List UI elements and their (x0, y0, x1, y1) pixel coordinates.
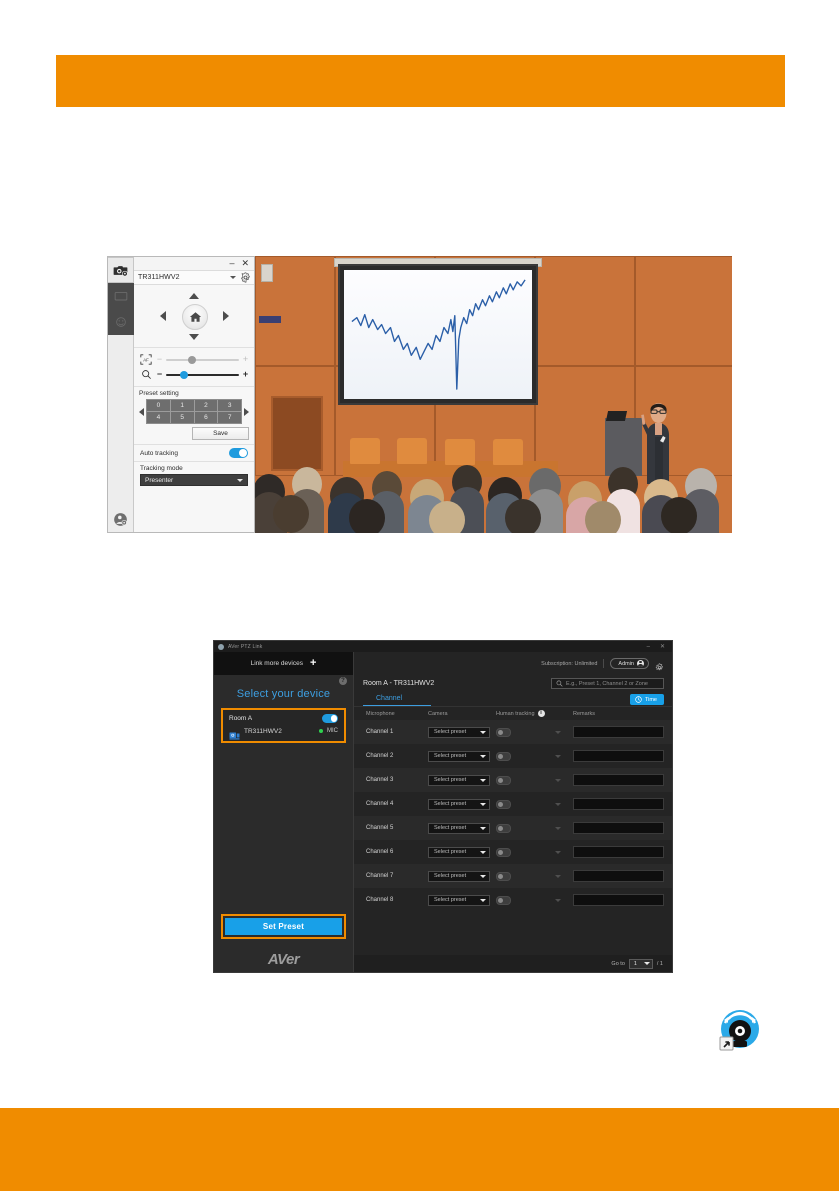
toggle-knob (239, 449, 247, 457)
row-human-tracking-cell (496, 824, 573, 833)
ptz-device-name: TR311HWV2 (138, 274, 227, 281)
rail-smiley-button[interactable] (108, 309, 134, 335)
set-preset-highlight: Set Preset (221, 914, 346, 939)
column-header-human-tracking: Human tracking (496, 711, 535, 717)
human-tracking-toggle[interactable] (496, 800, 511, 809)
pan-left-button[interactable] (160, 311, 166, 321)
column-header-human-tracking-wrap: Human tracking i (496, 710, 573, 717)
link-more-devices-label: Link more devices (251, 660, 303, 667)
device-card-top-row: Room A (229, 714, 338, 723)
row-microphone-label: Channel 6 (366, 849, 428, 855)
preset-row: 0 1 2 3 4 5 6 7 (139, 399, 249, 424)
row-microphone-label: Channel 5 (366, 825, 428, 831)
chevron-down-icon[interactable] (555, 851, 561, 854)
zoom-slider-thumb[interactable] (180, 371, 188, 379)
camera-preset-value: Select preset (434, 777, 466, 783)
ptz-main-area: – ✕ TR311HWV2 (134, 257, 254, 532)
projection-screen (338, 264, 538, 405)
remarks-input[interactable] (573, 894, 664, 906)
set-preset-button[interactable]: Set Preset (225, 918, 342, 935)
camera-preset-select[interactable]: Select preset (428, 727, 490, 738)
info-icon[interactable]: i (538, 710, 545, 717)
audience (255, 462, 732, 533)
auto-focus-icon: AF (139, 354, 153, 366)
user-avatar-icon (637, 660, 644, 667)
human-tracking-toggle[interactable] (496, 848, 511, 857)
human-tracking-toggle[interactable] (496, 896, 511, 905)
select-your-device-title: Select your device (214, 686, 353, 708)
camera-preset-value: Select preset (434, 897, 466, 903)
chevron-left-icon[interactable] (139, 408, 144, 416)
camera-preset-value: Select preset (434, 873, 466, 879)
human-tracking-toggle[interactable] (496, 752, 511, 761)
remarks-input[interactable] (573, 870, 664, 882)
ptz-settings-button[interactable] (239, 271, 252, 284)
toggle-knob (331, 715, 338, 722)
brand-logo-wrap: AVer (214, 946, 353, 972)
tracking-mode-select[interactable]: Presenter (140, 474, 248, 486)
focus-minus-button[interactable]: − (156, 355, 163, 364)
preset-setting-label: Preset setting (139, 390, 249, 397)
chevron-down-icon[interactable] (555, 899, 561, 902)
app-logo-icon (218, 644, 224, 650)
preset-cell-1[interactable]: 1 (171, 400, 194, 411)
chevron-down-icon (480, 851, 486, 854)
ptz-titlebar: – ✕ (134, 257, 254, 270)
table-row[interactable]: Channel 8 Select preset (354, 888, 672, 912)
row-human-tracking-cell (496, 776, 573, 785)
wall-panel (535, 256, 635, 366)
app-top-bar: Subscription: Unlimited Admin (354, 652, 672, 675)
chevron-down-icon[interactable] (555, 779, 561, 782)
mic-label: MIC (327, 728, 338, 734)
help-row: ? (214, 675, 353, 686)
device-card-room-a[interactable]: Room A TR311HWV2 (221, 708, 346, 743)
admin-label: Admin (618, 661, 634, 667)
chevron-down-icon[interactable] (555, 875, 561, 878)
toggle-knob (498, 826, 503, 831)
toggle-knob (498, 754, 503, 759)
link-more-devices-button[interactable]: Link more devices + (214, 652, 353, 675)
ptz-sidebar-rail (108, 257, 134, 532)
device-room-label: Room A (229, 715, 252, 722)
focus-slider-thumb[interactable] (188, 356, 196, 364)
rail-display-button[interactable] (108, 283, 134, 309)
time-button-label: Time (645, 697, 657, 703)
magnifier-icon (139, 369, 153, 381)
chevron-down-icon (480, 755, 486, 758)
clock-icon (635, 696, 642, 703)
toggle-knob (498, 874, 503, 879)
row-camera-cell: Select preset (428, 799, 496, 810)
zoom-slider-row: − + (139, 367, 249, 382)
remarks-input[interactable] (573, 750, 664, 762)
remarks-input[interactable] (573, 846, 664, 858)
chevron-down-icon (480, 899, 486, 902)
camera-preset-value: Select preset (434, 753, 466, 759)
home-icon (189, 311, 202, 323)
human-tracking-toggle[interactable] (496, 728, 511, 737)
gear-icon (240, 272, 251, 283)
device-model-label: TR311HWV2 (244, 728, 315, 735)
camera-preset-select[interactable]: Select preset (428, 823, 490, 834)
tracking-mode-label: Tracking mode (140, 465, 248, 472)
pan-up-button[interactable] (189, 293, 199, 299)
focus-plus-button[interactable]: + (242, 355, 249, 364)
toggle-knob (498, 730, 503, 735)
camera-preset-select[interactable]: Select preset (428, 751, 490, 762)
tracking-mode-section: Tracking mode Presenter (134, 462, 254, 532)
remarks-input[interactable] (573, 774, 664, 786)
row-microphone-label: Channel 1 (366, 729, 428, 735)
preset-save-button[interactable]: Save (192, 427, 249, 440)
camera-device-icon (229, 727, 240, 736)
tracking-mode-value: Presenter (145, 477, 173, 484)
toggle-knob (498, 898, 503, 903)
remarks-input[interactable] (573, 798, 664, 810)
column-header-microphone: Microphone (366, 711, 428, 717)
column-header-remarks: Remarks (573, 711, 664, 717)
main-content-panel: Subscription: Unlimited Admin Room A - T… (354, 652, 672, 972)
page-total-label: / 1 (657, 961, 663, 967)
row-camera-cell: Select preset (428, 727, 496, 738)
top-banner-bar (56, 55, 785, 107)
ptz-minimize-button[interactable]: – (229, 259, 234, 268)
app-minimize-button[interactable]: – (644, 644, 653, 650)
row-microphone-label: Channel 4 (366, 801, 428, 807)
camera-preset-select[interactable]: Select preset (428, 895, 490, 906)
row-human-tracking-cell (496, 728, 573, 737)
chevron-right-icon[interactable] (244, 408, 249, 416)
auto-tracking-label: Auto tracking (140, 450, 178, 457)
device-power-toggle[interactable] (322, 714, 338, 723)
chevron-down-icon (480, 779, 486, 782)
row-human-tracking-cell (496, 848, 573, 857)
table-row[interactable]: Channel 3 Select preset (354, 768, 672, 792)
ptz-control-window: – ✕ TR311HWV2 (107, 256, 255, 533)
focus-slider-row: AF − + (139, 352, 249, 367)
preset-cell-0[interactable]: 0 (147, 400, 170, 411)
settings-button[interactable] (655, 659, 664, 668)
human-tracking-toggle[interactable] (496, 824, 511, 833)
smiley-icon (114, 316, 128, 328)
ptz-sliders: AF − + − + (134, 348, 254, 387)
laptop-on-podium (606, 411, 627, 421)
app-title: AVer PTZ Link (228, 644, 640, 650)
mic-status-indicator (319, 729, 323, 733)
table-row[interactable]: Channel 1 Select preset (354, 720, 672, 744)
app-titlebar: AVer PTZ Link – ✕ (214, 641, 672, 652)
pagination-bar: Go to 1 / 1 (354, 955, 672, 972)
row-human-tracking-cell (496, 752, 573, 761)
chevron-down-icon (237, 479, 243, 482)
tab-row: Channel Time (354, 689, 672, 705)
chevron-down-icon (480, 827, 486, 830)
preset-cell-3[interactable]: 3 (218, 400, 241, 411)
chevron-down-icon (644, 962, 650, 965)
search-placeholder-text: E.g., Preset 1, Channel 2 or Zone (566, 681, 648, 687)
toggle-knob (498, 778, 503, 783)
plus-icon: + (310, 658, 316, 669)
search-icon (556, 680, 563, 687)
chevron-down-icon[interactable] (555, 731, 561, 734)
remarks-input[interactable] (573, 726, 664, 738)
row-camera-cell: Select preset (428, 847, 496, 858)
focus-slider-track[interactable] (166, 359, 239, 361)
camera-preset-value: Select preset (434, 729, 466, 735)
human-tracking-toggle[interactable] (496, 776, 511, 785)
auto-tracking-toggle[interactable] (229, 448, 248, 458)
lecture-hall-door (271, 396, 323, 471)
human-tracking-toggle[interactable] (496, 872, 511, 881)
camera-preset-value: Select preset (434, 825, 466, 831)
preset-setting-section: Preset setting 0 1 2 3 4 5 6 7 Save (134, 387, 254, 445)
remarks-input[interactable] (573, 822, 664, 834)
preset-cell-6[interactable]: 6 (195, 412, 218, 423)
wall-panel (635, 256, 732, 366)
gear-icon (655, 663, 664, 672)
page-current-value: 1 (634, 961, 637, 967)
table-row[interactable]: Channel 2 Select preset (354, 744, 672, 768)
row-human-tracking-cell (496, 896, 573, 905)
camera-preset-value: Select preset (434, 849, 466, 855)
home-position-button[interactable] (182, 304, 208, 330)
app-body: Link more devices + ? Select your device… (214, 652, 672, 972)
device-sidebar: Link more devices + ? Select your device… (214, 652, 354, 972)
column-header-camera: Camera (428, 711, 496, 717)
wall-mounted-device (259, 316, 281, 323)
aver-ptz-link-shortcut-icon[interactable] (716, 1006, 764, 1054)
zoom-in-button[interactable]: + (242, 370, 249, 379)
preset-cell-7[interactable]: 7 (218, 412, 241, 423)
preset-save-wrap: Save (139, 427, 249, 440)
camera-settings-icon (113, 264, 128, 277)
row-microphone-label: Channel 7 (366, 873, 428, 879)
help-icon[interactable]: ? (339, 677, 347, 685)
auto-tracking-row: Auto tracking (134, 445, 254, 462)
rail-camera-settings-button[interactable] (108, 257, 134, 283)
room-header: Room A - TR311HWV2 E.g., Preset 1, Chann… (354, 675, 672, 689)
chevron-down-icon (230, 276, 236, 279)
chevron-down-icon (480, 875, 486, 878)
svg-text:AF: AF (143, 357, 149, 362)
zoom-slider-track[interactable] (166, 374, 239, 376)
camera-preset-select[interactable]: Select preset (428, 847, 490, 858)
chevron-down-icon[interactable] (555, 827, 561, 830)
row-camera-cell: Select preset (428, 775, 496, 786)
pan-right-button[interactable] (223, 311, 229, 321)
user-settings-icon (113, 512, 128, 527)
stage-chair (397, 438, 427, 464)
projected-chart (344, 270, 532, 399)
ptz-close-button[interactable]: ✕ (241, 259, 249, 268)
row-microphone-label: Channel 8 (366, 897, 428, 903)
table-row[interactable]: Channel 4 Select preset (354, 792, 672, 816)
wall-speaker (261, 264, 273, 282)
chevron-down-icon (480, 803, 486, 806)
chevron-down-icon[interactable] (555, 803, 561, 806)
chevron-down-icon (480, 731, 486, 734)
preset-cell-2[interactable]: 2 (195, 400, 218, 411)
display-icon (114, 291, 128, 302)
ptz-dpad (134, 285, 254, 348)
row-camera-cell: Select preset (428, 895, 496, 906)
rail-user-settings-button[interactable] (108, 506, 134, 532)
channel-table-rows: Channel 1 Select preset Channel 2 (354, 720, 672, 955)
bottom-banner-bar (0, 1108, 839, 1191)
row-microphone-label: Channel 3 (366, 777, 428, 783)
aver-ptz-link-window: AVer PTZ Link – ✕ Link more devices + ? … (213, 640, 673, 973)
admin-account-button[interactable]: Admin (610, 658, 649, 669)
camera-preset-select[interactable]: Select preset (428, 775, 490, 786)
tab-channel[interactable]: Channel (363, 695, 415, 705)
preset-cell-4[interactable]: 4 (147, 412, 170, 423)
preset-grid: 0 1 2 3 4 5 6 7 (146, 399, 242, 424)
camera-preset-value: Select preset (434, 801, 466, 807)
table-row[interactable]: Channel 5 Select preset (354, 816, 672, 840)
table-header-row: Microphone Camera Human tracking i Remar… (354, 707, 672, 720)
camera-preset-select[interactable]: Select preset (428, 799, 490, 810)
row-camera-cell: Select preset (428, 871, 496, 882)
row-human-tracking-cell (496, 800, 573, 809)
divider (603, 659, 604, 668)
toggle-knob (498, 850, 503, 855)
row-camera-cell: Select preset (428, 823, 496, 834)
chevron-down-icon[interactable] (555, 755, 561, 758)
ptz-device-selector[interactable]: TR311HWV2 (134, 270, 254, 285)
sidebar-spacer (214, 743, 353, 915)
device-card-bottom-row: TR311HWV2 MIC (229, 727, 338, 736)
search-input[interactable]: E.g., Preset 1, Channel 2 or Zone (551, 678, 664, 689)
table-row[interactable]: Channel 6 Select preset (354, 840, 672, 864)
preset-cell-5[interactable]: 5 (171, 412, 194, 423)
subscription-status: Subscription: Unlimited (541, 661, 597, 667)
time-button[interactable]: Time (630, 694, 664, 705)
goto-label: Go to (611, 961, 624, 967)
stage-chair (350, 438, 380, 464)
zoom-out-button[interactable]: − (156, 370, 163, 379)
row-microphone-label: Channel 2 (366, 753, 428, 759)
app-close-button[interactable]: ✕ (657, 644, 668, 650)
row-human-tracking-cell (496, 872, 573, 881)
toggle-knob (498, 802, 503, 807)
room-title: Room A - TR311HWV2 (363, 680, 434, 687)
page-select[interactable]: 1 (629, 959, 653, 969)
lecture-hall-camera-feed (255, 256, 732, 533)
table-row[interactable]: Channel 7 Select preset (354, 864, 672, 888)
aver-brand-logo: AVer (268, 951, 299, 968)
stock-line-chart (344, 270, 532, 399)
pan-down-button[interactable] (189, 334, 199, 340)
camera-preset-select[interactable]: Select preset (428, 871, 490, 882)
row-camera-cell: Select preset (428, 751, 496, 762)
